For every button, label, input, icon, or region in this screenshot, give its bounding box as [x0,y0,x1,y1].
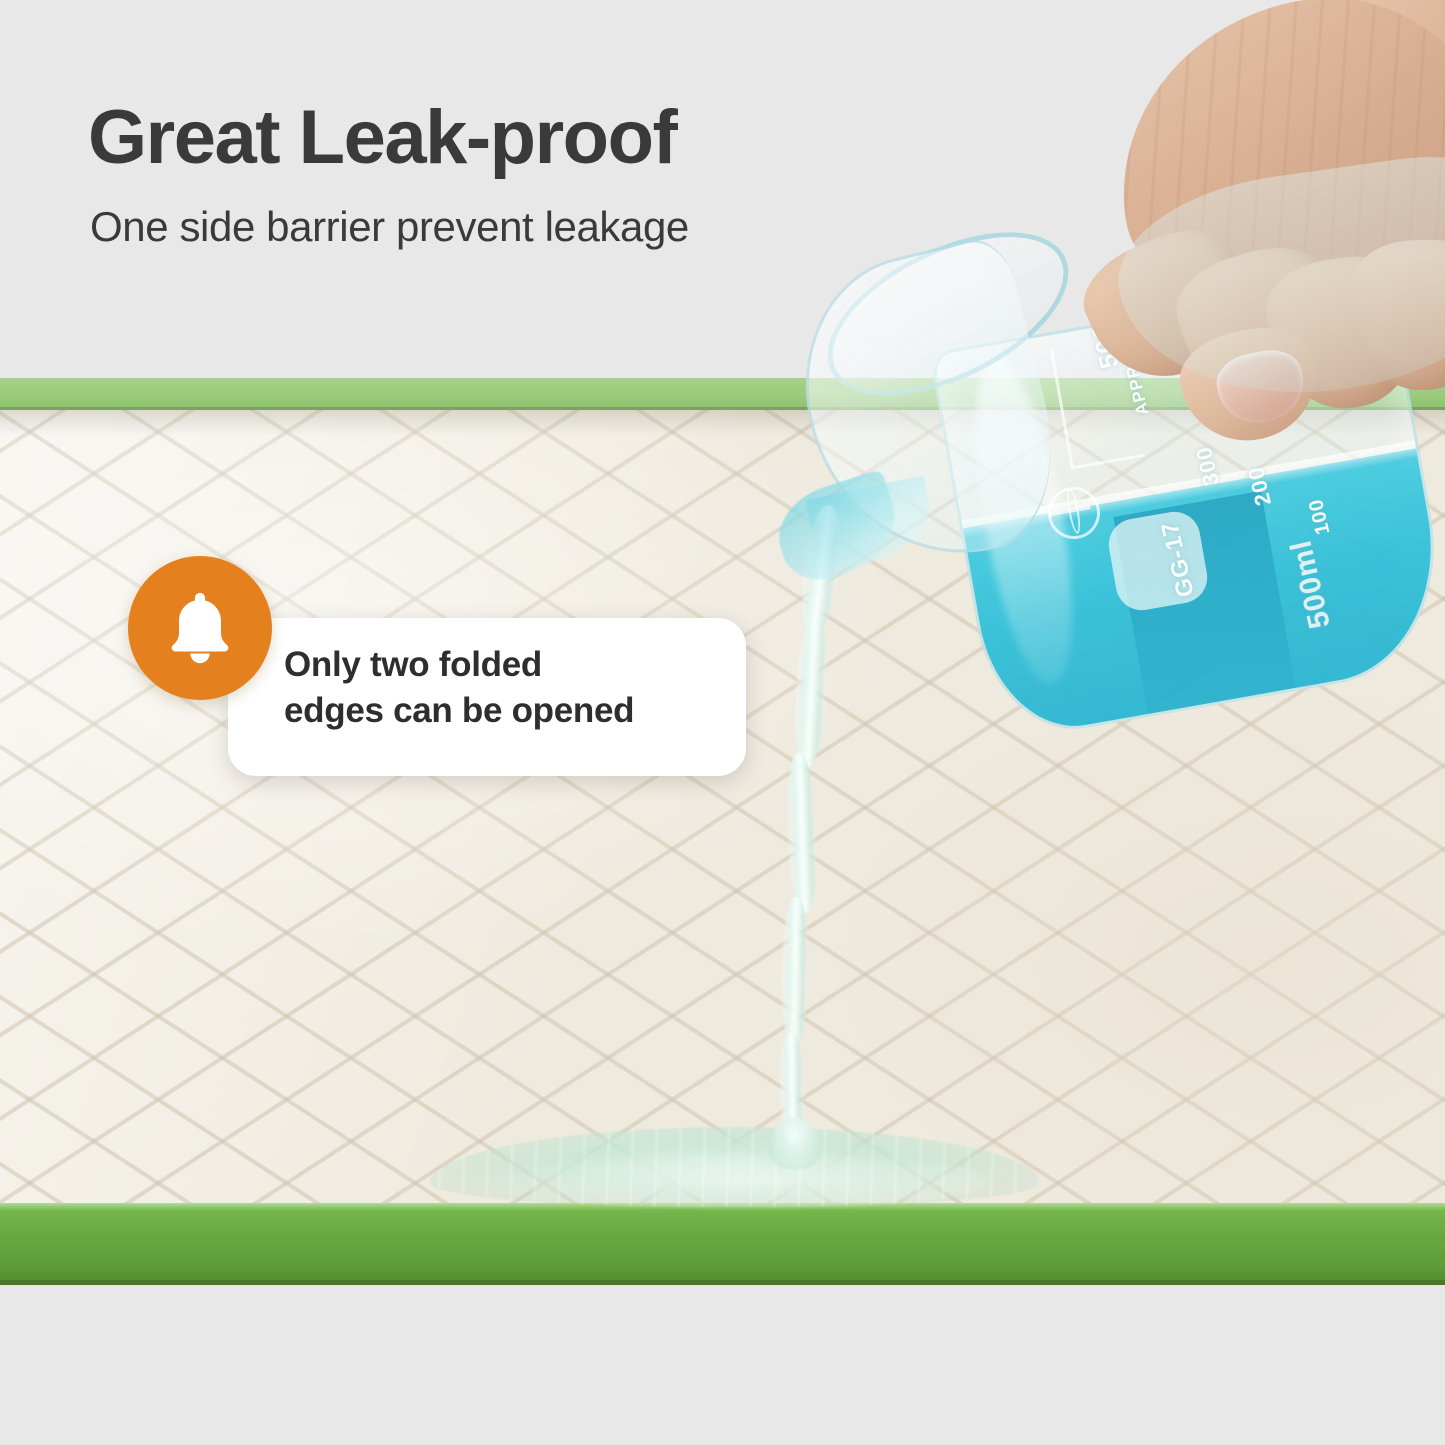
callout-badge [128,556,272,700]
feature-callout: Only two folded edges can be opened [128,556,748,778]
beaker-and-hand: 500 APPROX 300 200 100 GG-17 500ml [810,215,1445,715]
stream-segment [781,897,810,1047]
bell-icon [166,590,234,666]
stream-segment [785,753,819,914]
hand [970,0,1445,460]
product-feature-image: Great Leak-proof One side barrier preven… [0,0,1445,1445]
puddle-highlight [470,1150,990,1212]
pad-leak-barrier [0,1203,1445,1285]
callout-text: Only two folded edges can be opened [284,642,754,733]
stream-impact-splash [768,1117,822,1169]
page-subtitle: One side barrier prevent leakage [90,206,689,248]
page-title: Great Leak-proof [88,100,676,176]
